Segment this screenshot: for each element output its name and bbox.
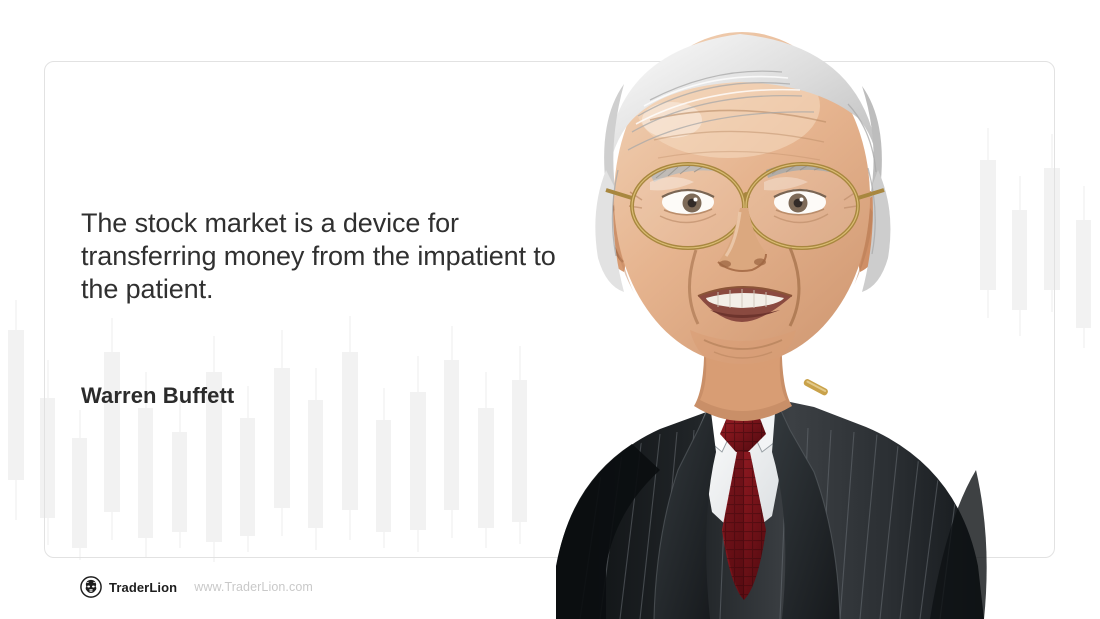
backdrop-candle-body <box>8 330 24 480</box>
brand-url: www.TraderLion.com <box>194 580 313 594</box>
warren-buffett-portrait <box>410 0 1100 619</box>
quote-author: Warren Buffett <box>81 383 234 409</box>
backdrop-candle-wick <box>15 300 17 520</box>
quote-text: The stock market is a device for transfe… <box>81 207 581 306</box>
lapel-pin-icon <box>803 378 829 396</box>
brand-name: TraderLion <box>109 580 177 595</box>
lion-head-icon <box>80 576 102 598</box>
quote-block: The stock market is a device for transfe… <box>81 207 581 306</box>
quote-graphic: The stock market is a device for transfe… <box>0 0 1100 619</box>
footer-brand: TraderLion www.TraderLion.com <box>80 576 313 598</box>
